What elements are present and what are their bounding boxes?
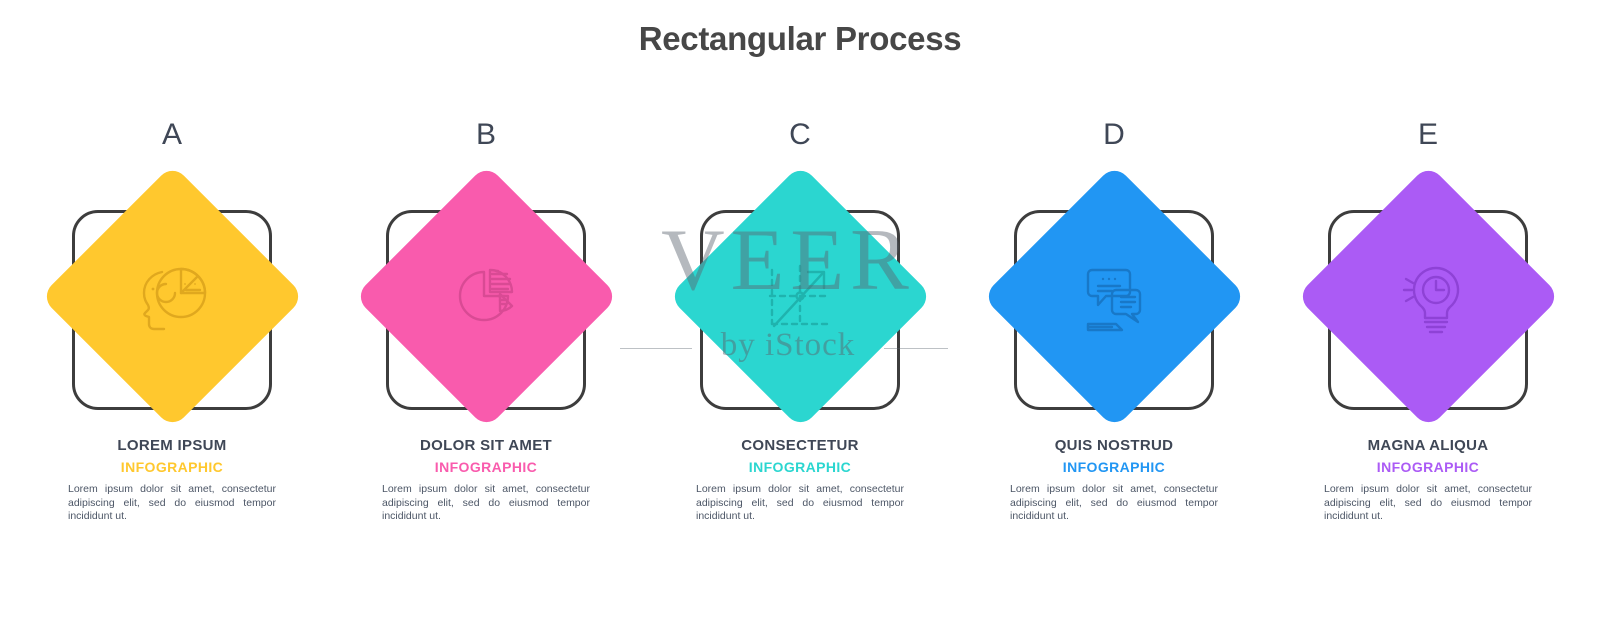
step-letter-a: A bbox=[162, 118, 182, 152]
step-body-e: Lorem ipsum dolor sit amet, consectetur … bbox=[1302, 483, 1554, 524]
infographic-canvas: Rectangular Process A bbox=[0, 0, 1600, 617]
step-letter-c: C bbox=[789, 118, 811, 152]
step-texts-e: MAGNA ALIQUA INFOGRAPHIC Lorem ipsum dol… bbox=[1302, 436, 1554, 524]
chat-bubbles-pencil-icon bbox=[1070, 252, 1158, 340]
step-subheading-b: INFOGRAPHIC bbox=[360, 457, 612, 477]
pie-chart-icon bbox=[442, 252, 530, 340]
lightbulb-clock-icon bbox=[1384, 252, 1472, 340]
step-body-a: Lorem ipsum dolor sit amet, consectetur … bbox=[46, 483, 298, 524]
step-subheading-e: INFOGRAPHIC bbox=[1302, 457, 1554, 477]
process-step-a[interactable]: A bbox=[40, 118, 304, 524]
process-step-e[interactable]: E MAGNA ALIQUA INFOGRAPHIC Lorem bbox=[1296, 118, 1560, 524]
step-letter-d: D bbox=[1103, 118, 1125, 152]
process-step-c[interactable]: C CONSECTETUR bbox=[668, 118, 932, 524]
step-heading-c: CONSECTETUR bbox=[674, 436, 926, 456]
step-heading-e: MAGNA ALIQUA bbox=[1302, 436, 1554, 456]
step-heading-d: QUIS NOSTRUD bbox=[988, 436, 1240, 456]
process-step-b[interactable]: B DOLOR SIT AMET INFOGRAPHIC Lorem ipsum… bbox=[354, 118, 618, 524]
step-body-b: Lorem ipsum dolor sit amet, consectetur … bbox=[360, 483, 612, 524]
step-shape-d bbox=[982, 162, 1246, 430]
step-subheading-d: INFOGRAPHIC bbox=[988, 457, 1240, 477]
step-shape-c bbox=[668, 162, 932, 430]
growth-arrow-icon bbox=[756, 252, 844, 340]
step-heading-a: LOREM IPSUM bbox=[46, 436, 298, 456]
step-subheading-c: INFOGRAPHIC bbox=[674, 457, 926, 477]
step-texts-b: DOLOR SIT AMET INFOGRAPHIC Lorem ipsum d… bbox=[360, 436, 612, 524]
process-steps-row: A bbox=[0, 118, 1600, 524]
step-letter-e: E bbox=[1418, 118, 1438, 152]
step-subheading-a: INFOGRAPHIC bbox=[46, 457, 298, 477]
step-shape-e bbox=[1296, 162, 1560, 430]
process-step-d[interactable]: D bbox=[982, 118, 1246, 524]
step-shape-b bbox=[354, 162, 618, 430]
step-shape-a bbox=[40, 162, 304, 430]
step-texts-a: LOREM IPSUM INFOGRAPHIC Lorem ipsum dolo… bbox=[46, 436, 298, 524]
head-pie-chart-icon bbox=[128, 252, 216, 340]
step-body-c: Lorem ipsum dolor sit amet, consectetur … bbox=[674, 483, 926, 524]
step-body-d: Lorem ipsum dolor sit amet, consectetur … bbox=[988, 483, 1240, 524]
page-title: Rectangular Process bbox=[0, 20, 1600, 58]
step-letter-b: B bbox=[476, 118, 496, 152]
step-heading-b: DOLOR SIT AMET bbox=[360, 436, 612, 456]
step-texts-d: QUIS NOSTRUD INFOGRAPHIC Lorem ipsum dol… bbox=[988, 436, 1240, 524]
step-texts-c: CONSECTETUR INFOGRAPHIC Lorem ipsum dolo… bbox=[674, 436, 926, 524]
